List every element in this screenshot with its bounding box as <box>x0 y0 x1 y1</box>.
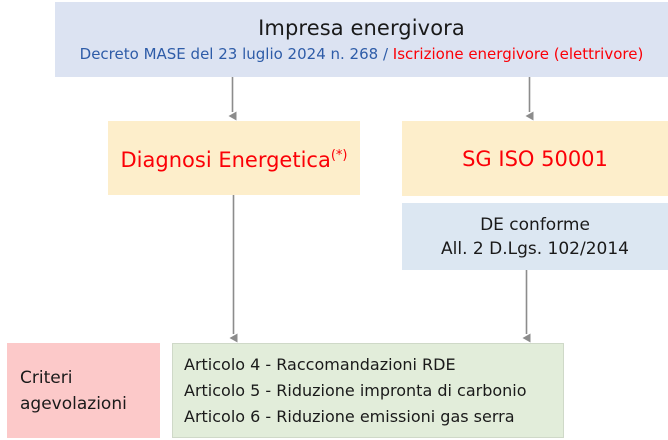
node-diagnosi-energetica-text: Diagnosi Energetica <box>121 148 331 172</box>
node-impresa-energivora[interactable]: Impresa energivora Decreto MASE del 23 l… <box>55 2 668 77</box>
node-articolo-5: Articolo 5 - Riduzione impronta di carbo… <box>184 378 527 404</box>
node-criteri-agevolazioni-line-1: Criteri <box>20 365 72 391</box>
node-impresa-energivora-title: Impresa energivora <box>258 14 465 42</box>
node-impresa-energivora-subtitle: Decreto MASE del 23 luglio 2024 n. 268 /… <box>80 43 644 65</box>
node-sg-iso-50001[interactable]: SG ISO 50001 <box>402 121 668 196</box>
node-diagnosi-energetica[interactable]: Diagnosi Energetica(*) <box>108 121 360 195</box>
node-criteri-agevolazioni-line-2: agevolazioni <box>20 391 127 417</box>
node-diagnosi-energetica-label: Diagnosi Energetica(*) <box>121 143 348 173</box>
node-articoli-criteri[interactable]: Articolo 4 - Raccomandazioni RDE Articol… <box>172 343 564 438</box>
subtitle-separator: / <box>378 45 393 63</box>
node-sg-iso-50001-label: SG ISO 50001 <box>462 146 608 172</box>
flowchart-diagram: Impresa energivora Decreto MASE del 23 l… <box>0 0 668 440</box>
node-articolo-4: Articolo 4 - Raccomandazioni RDE <box>184 352 456 378</box>
subtitle-iscrizione-energivore: Iscrizione energivore (elettrivore) <box>393 45 644 63</box>
subtitle-decreto-mase: Decreto MASE del 23 luglio 2024 n. 268 <box>80 45 379 63</box>
node-articolo-6: Articolo 6 - Riduzione emissioni gas ser… <box>184 404 515 430</box>
asterisk-note-marker: (*) <box>331 148 348 163</box>
node-de-conforme-line-2: All. 2 D.Lgs. 102/2014 <box>441 237 629 261</box>
node-de-conforme[interactable]: DE conforme All. 2 D.Lgs. 102/2014 <box>402 203 668 270</box>
node-criteri-agevolazioni[interactable]: Criteri agevolazioni <box>7 343 160 438</box>
node-de-conforme-line-1: DE conforme <box>480 213 590 237</box>
